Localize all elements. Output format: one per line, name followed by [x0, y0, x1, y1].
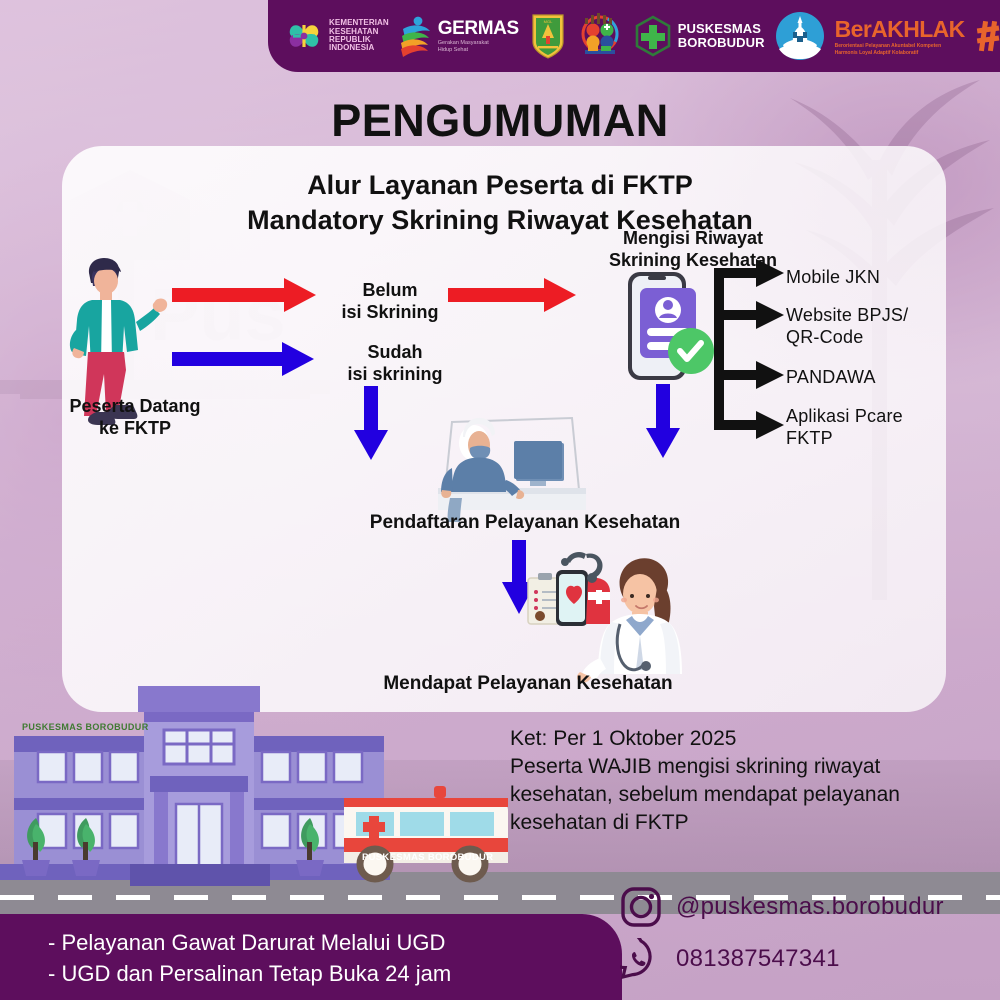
logo-puskesmas: PUSKESMAS BOROBUDUR [633, 15, 765, 57]
channel-mobile-jkn: Mobile JKN [786, 267, 880, 289]
flow-subtitle-line1: Alur Layanan Peserta di FKTP [0, 168, 1000, 203]
logo-borobudur-temple [775, 11, 825, 61]
whatsapp-icon[interactable] [620, 938, 662, 980]
bangga-mark-icon [975, 19, 1000, 53]
logo-kabupaten-magelang: MGL [529, 12, 567, 60]
logo-berakhlak: BerAKHLAK Berorientasi Pelayanan Akuntab… [835, 16, 965, 56]
building-sign: PUSKESMAS BOROBUDUR [22, 722, 149, 732]
whatsapp-number[interactable]: 081387547341 [676, 945, 840, 973]
keterangan-line4: kesehatan di FKTP [510, 809, 980, 837]
label-sudah-line1: Sudah [325, 342, 465, 364]
footer-line2: - UGD dan Persalinan Tetap Buka 24 jam [48, 959, 622, 990]
label-sudah-isi-skrining: Sudah isi skrining [325, 342, 465, 386]
label-belum-isi-skrining: Belum isi Skrining [320, 280, 460, 324]
label-pendaftaran: Pendaftaran Pelayanan Kesehatan [355, 511, 695, 534]
logo-bangga-melayani-bangsa: bangga melayani bangsa [975, 16, 1000, 57]
label-peserta-line2: ke FKTP [35, 418, 235, 440]
ambulance-illustration [344, 786, 508, 879]
green-cross-hexagon-icon [633, 15, 673, 57]
label-mengisi-line1: Mengisi Riwayat [578, 228, 808, 250]
instagram-handle[interactable]: @puskesmas.borobudur [676, 893, 944, 921]
keterangan-line2: Peserta WAJIB mengisi skrining riwayat [510, 753, 980, 781]
berakhlak-label: BerAKHLAK Berorientasi Pelayanan Akuntab… [835, 16, 965, 56]
header-logo-bar: KEMENTERIAN KESEHATAN REPUBLIK INDONESIA… [268, 0, 1000, 72]
instagram-icon[interactable] [620, 886, 662, 928]
label-belum-line1: Belum [320, 280, 460, 302]
puskesmas-label: PUSKESMAS BOROBUDUR [678, 22, 765, 50]
svg-text:MGL: MGL [543, 19, 552, 24]
label-mengisi-riwayat: Mengisi Riwayat Skrining Kesehatan [578, 228, 808, 272]
keterangan-line3: kesehatan, sebelum mendapat pelayanan [510, 781, 980, 809]
instagram-row[interactable]: @puskesmas.borobudur [620, 886, 1000, 928]
label-sudah-line2: isi skrining [325, 364, 465, 386]
label-mengisi-line2: Skrining Kesehatan [578, 250, 808, 272]
temple-icon [775, 11, 825, 61]
label-belum-line2: isi Skrining [320, 302, 460, 324]
label-peserta-datang: Peserta Datang ke FKTP [35, 396, 235, 440]
logo-kemenkes: KEMENTERIAN KESEHATAN REPUBLIK INDONESIA [284, 16, 389, 56]
logo-emblem [577, 12, 623, 60]
footer-line1: - Pelayanan Gawat Darurat Melalui UGD [48, 928, 622, 959]
keterangan-line1: Ket: Per 1 Oktober 2025 [510, 725, 980, 753]
ambulance-sign: PUSKESMAS BOROBUDUR [362, 852, 493, 863]
social-contacts: @puskesmas.borobudur 081387547341 [620, 886, 1000, 990]
channel-pandawa: PANDAWA [786, 367, 876, 389]
flow-subtitle-line2: Mandatory Skrining Riwayat Kesehatan [0, 203, 1000, 238]
channel-website-bpjs: Website BPJS/ QR-Code [786, 305, 908, 348]
page-title: PENGUMUMAN [0, 95, 1000, 147]
germas-icon [399, 15, 433, 57]
kemenkes-label: KEMENTERIAN KESEHATAN REPUBLIK INDONESIA [329, 19, 389, 53]
shield-icon: MGL [529, 12, 567, 60]
channel-pcare-line2: FKTP [786, 428, 903, 450]
logo-germas: GERMAS Gerakan Masyarakat Hidup Sehat [399, 15, 519, 57]
emblem-icon [577, 12, 623, 60]
flow-subtitle: Alur Layanan Peserta di FKTP Mandatory S… [0, 168, 1000, 238]
footer-bar: - Pelayanan Gawat Darurat Melalui UGD - … [0, 914, 622, 1000]
channel-pcare-fktp: Aplikasi Pcare FKTP [786, 406, 903, 449]
label-peserta-line1: Peserta Datang [35, 396, 235, 418]
puskesmas-building-illustration [0, 678, 520, 914]
keterangan-note: Ket: Per 1 Oktober 2025 Peserta WAJIB me… [510, 725, 980, 837]
whatsapp-row[interactable]: 081387547341 [620, 938, 1000, 980]
kemenkes-icon [284, 16, 324, 56]
channel-pcare-line1: Aplikasi Pcare [786, 406, 903, 428]
channel-website-bpjs-line1: Website BPJS/ [786, 305, 908, 327]
germas-label: GERMAS Gerakan Masyarakat Hidup Sehat [438, 18, 519, 54]
channel-website-bpjs-line2: QR-Code [786, 327, 908, 349]
